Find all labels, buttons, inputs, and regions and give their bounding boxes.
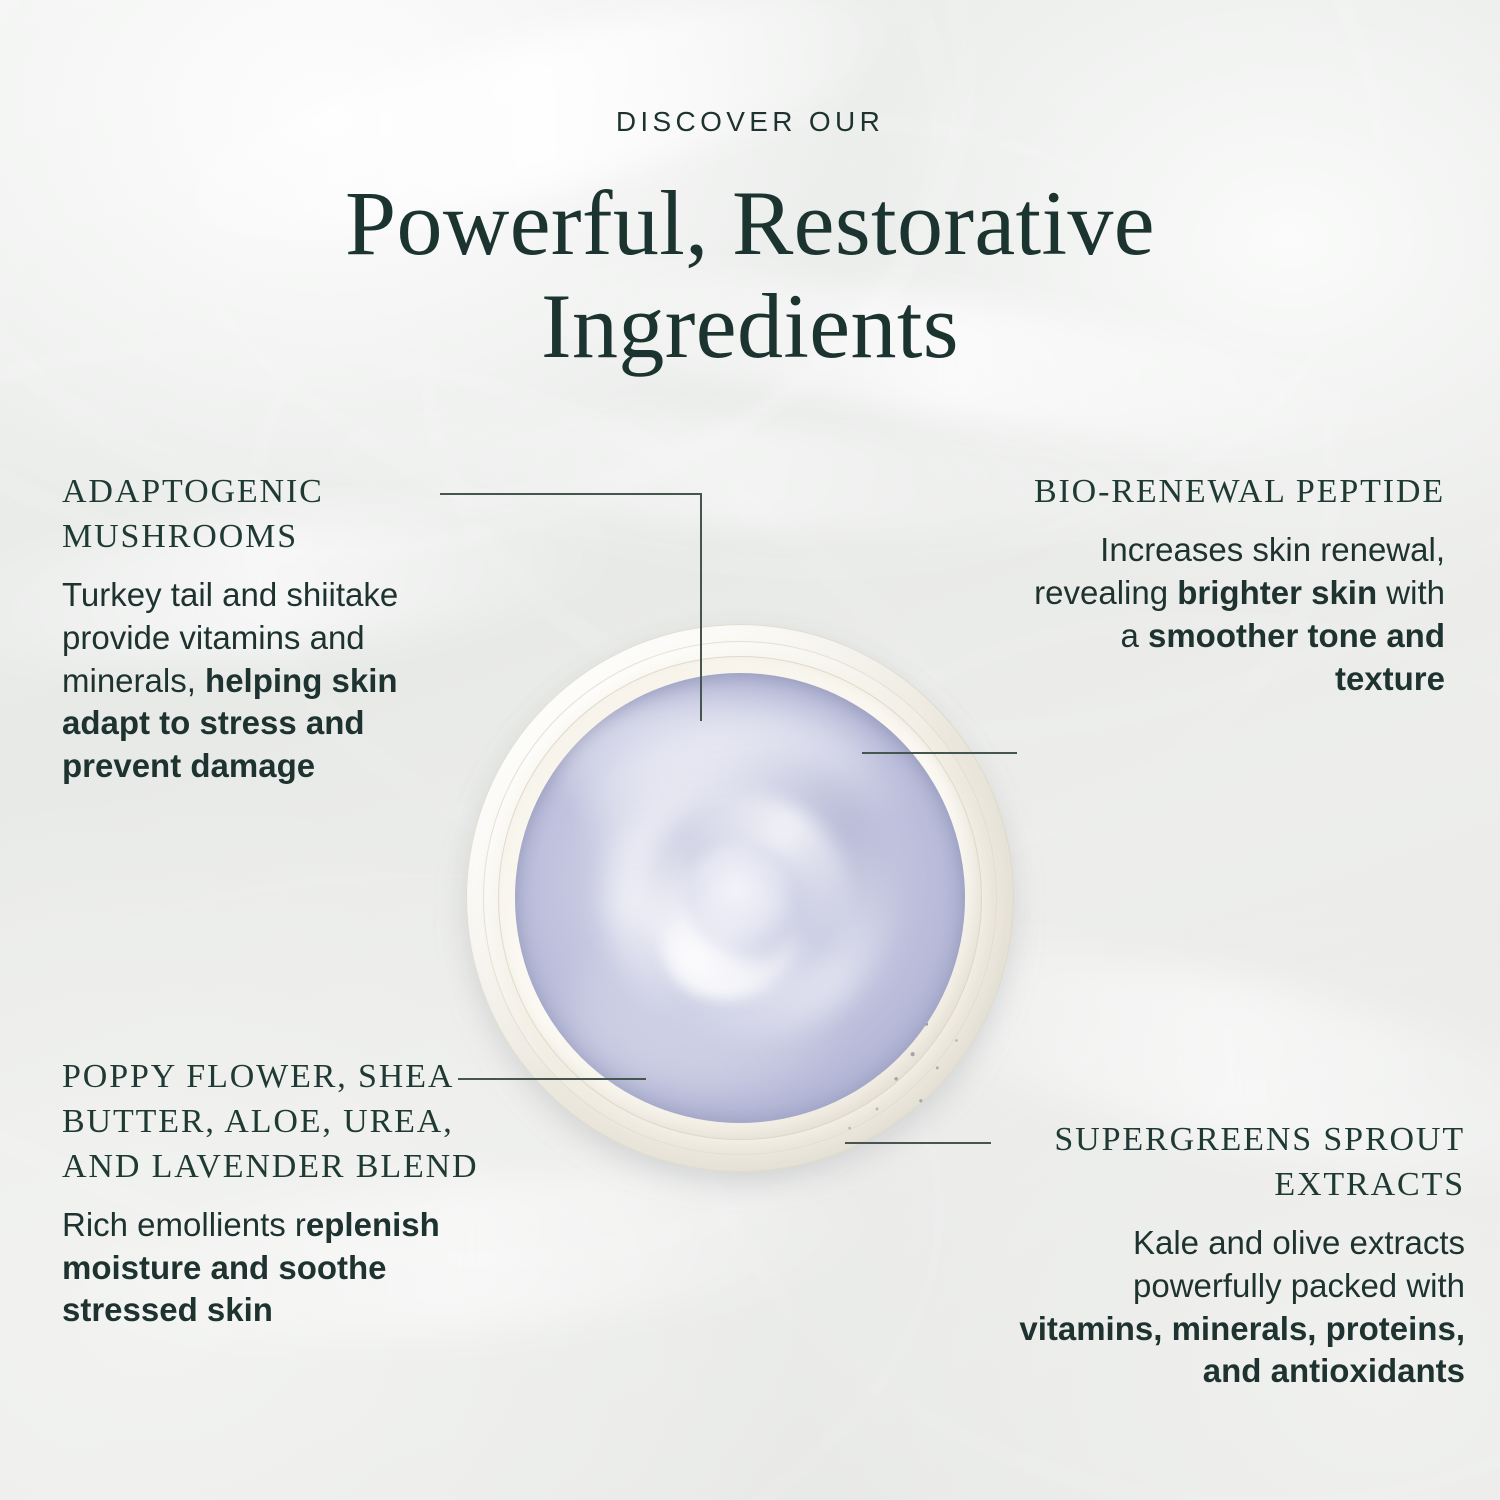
- cream-swirl-core: [686, 840, 803, 957]
- callout-bio-renewal-peptide: BIO-RENEWAL PEPTIDE Increases skin renew…: [1030, 470, 1445, 700]
- callout-body: Kale and olive extracts powerfully packe…: [1000, 1222, 1465, 1394]
- callout-body: Increases skin renewal, revealing bright…: [1030, 529, 1445, 701]
- connector-line-peptide: [862, 752, 1017, 754]
- eyebrow-text: DISCOVER OUR: [0, 106, 1500, 138]
- lavender-cream-surface: [515, 673, 965, 1123]
- callout-body-bold: vitamins, minerals, proteins, and antiox…: [1019, 1310, 1465, 1390]
- product-jar-image: [466, 624, 1014, 1172]
- callout-adaptogenic-mushrooms: ADAPTOGENIC MUSHROOMS Turkey tail and sh…: [62, 470, 492, 788]
- callout-poppy-shea-aloe-urea-lavender: POPPY FLOWER, SHEA BUTTER, ALOE, UREA, A…: [62, 1055, 512, 1332]
- callout-supergreens-sprout-extracts: SUPERGREENS SPROUT EXTRACTS Kale and oli…: [1000, 1118, 1465, 1393]
- callout-body-regular: Rich emollients r: [62, 1206, 306, 1243]
- connector-line-supergreens: [845, 1142, 991, 1144]
- callout-body-bold-2: smoother tone and texture: [1148, 617, 1445, 697]
- callout-title: ADAPTOGENIC MUSHROOMS: [62, 470, 492, 560]
- connector-line-mushrooms-vertical: [700, 493, 702, 721]
- callout-title: POPPY FLOWER, SHEA BUTTER, ALOE, UREA, A…: [62, 1055, 512, 1190]
- cream-peak-highlight: [648, 868, 814, 1019]
- callout-body-regular: Kale and olive extracts powerfully packe…: [1133, 1224, 1465, 1304]
- page-title-line-2: Ingredients: [0, 275, 1500, 378]
- callout-body: Rich emollients replenish moisture and s…: [62, 1204, 512, 1333]
- callout-title: SUPERGREENS SPROUT EXTRACTS: [1000, 1118, 1465, 1208]
- page-title-line-1: Powerful, Restorative: [0, 172, 1500, 275]
- cream-highlight-lower: [569, 921, 848, 1092]
- page-title: Powerful, Restorative Ingredients: [0, 172, 1500, 378]
- callout-body-bold: brighter skin: [1177, 574, 1377, 611]
- cream-gloss: [560, 700, 875, 835]
- infographic-canvas: DISCOVER OUR Powerful, Restorative Ingre…: [0, 0, 1500, 1500]
- callout-body: Turkey tail and shiitake provide vitamin…: [62, 574, 492, 788]
- cream-swirl-shadow: [722, 907, 794, 970]
- callout-title: BIO-RENEWAL PEPTIDE: [1030, 470, 1445, 515]
